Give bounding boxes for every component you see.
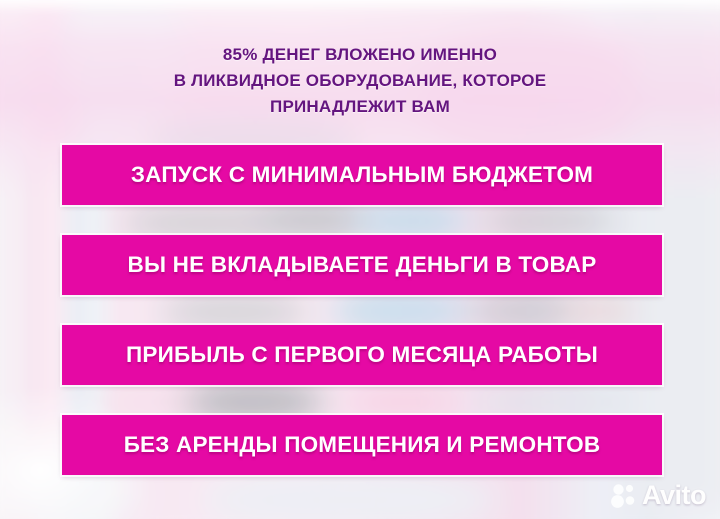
- benefit-bar-3: ПРИБЫЛЬ С ПЕРВОГО МЕСЯЦА РАБОТЫ: [62, 325, 662, 385]
- page-title: 85% ДЕНЕГ ВЛОЖЕНО ИМЕННО В ЛИКВИДНОЕ ОБО…: [0, 42, 720, 120]
- promo-poster: 85% ДЕНЕГ ВЛОЖЕНО ИМЕННО В ЛИКВИДНОЕ ОБО…: [0, 0, 720, 519]
- blur-blob: [480, 204, 620, 238]
- benefit-bar-label: БЕЗ АРЕНДЫ ПОМЕЩЕНИЯ И РЕМОНТОВ: [124, 432, 601, 458]
- benefit-bar-4: БЕЗ АРЕНДЫ ПОМЕЩЕНИЯ И РЕМОНТОВ: [62, 415, 662, 475]
- benefit-bar-label: ПРИБЫЛЬ С ПЕРВОГО МЕСЯЦА РАБОТЫ: [126, 342, 598, 368]
- blur-blob: [160, 295, 310, 329]
- benefit-bar-label: ЗАПУСК С МИНИМАЛЬНЫМ БЮДЖЕТОМ: [131, 162, 593, 188]
- blur-blob: [470, 294, 590, 328]
- benefit-bar-2: ВЫ НЕ ВКЛАДЫВАЕТЕ ДЕНЬГИ В ТОВАР: [62, 235, 662, 295]
- blur-blob: [470, 386, 640, 418]
- blur-blob: [200, 470, 500, 519]
- blur-blob: [560, 296, 640, 326]
- benefit-bar-label: ВЫ НЕ ВКЛАДЫВАЕТЕ ДЕНЬГИ В ТОВАР: [128, 252, 597, 278]
- avito-dots-logo-icon: [611, 483, 637, 509]
- avito-watermark: Avito: [611, 482, 706, 509]
- benefit-bar-1: ЗАПУСК С МИНИМАЛЬНЫМ БЮДЖЕТОМ: [62, 145, 662, 205]
- avito-watermark-text: Avito: [642, 482, 706, 509]
- blur-blob: [340, 386, 460, 418]
- blur-blob: [250, 200, 380, 240]
